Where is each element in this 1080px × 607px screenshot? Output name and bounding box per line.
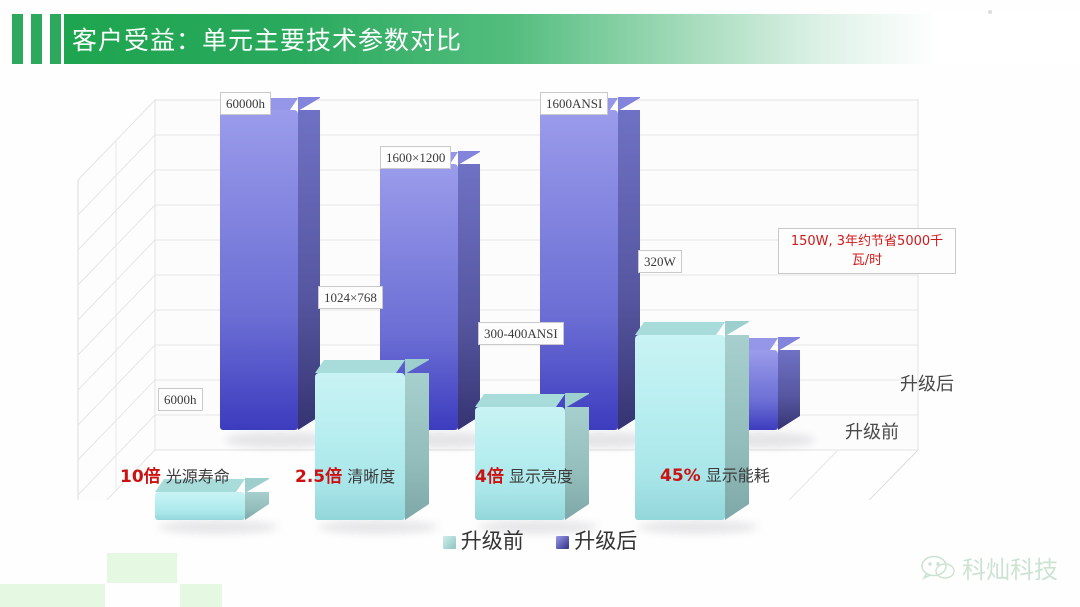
legend-swatch-icon (443, 536, 456, 549)
bar-side (245, 492, 269, 520)
legend-label: 升级后 (574, 529, 637, 553)
depth-axis-label-far: 升级后 (900, 370, 954, 396)
data-label-before-brightness: 300-400ANSI (478, 322, 564, 345)
bar-side (778, 350, 800, 430)
annotation-power-saving: 150W, 3年约节省5000千瓦/时 (778, 228, 956, 274)
bar-side (458, 164, 480, 430)
watermark: 科灿科技 (921, 550, 1058, 585)
category-name: 显示亮度 (509, 467, 573, 486)
category-label-lamp-life: 10倍 光源寿命 (120, 462, 230, 487)
header-tick-3 (50, 14, 61, 64)
category-label-brightness: 4倍 显示亮度 (475, 462, 573, 487)
category-name: 光源寿命 (166, 467, 230, 486)
bar-top (635, 322, 725, 335)
category-multiplier: 2.5倍 (295, 467, 342, 487)
bar-before-resolution[interactable] (315, 373, 405, 520)
decor-square-3 (180, 584, 222, 607)
bar-front (155, 492, 245, 520)
corner-dot (988, 10, 992, 14)
category-label-row: 10倍 光源寿命 2.5倍 清晰度 4倍 显示亮度 45% 显示能耗 (60, 462, 960, 488)
slide-header: 客户受益：单元主要技术参数对比 (0, 14, 1080, 64)
category-multiplier: 10倍 (120, 467, 161, 487)
slide: 客户受益：单元主要技术参数对比 (0, 0, 1080, 607)
legend-item-after[interactable]: 升级后 (556, 525, 637, 555)
page-title: 客户受益：单元主要技术参数对比 (72, 21, 462, 57)
bar-chart-3d: 60000h 6000h 1600×1200 1024×768 (60, 80, 960, 500)
data-label-before-power: 320W (638, 250, 682, 273)
data-label-after-resolution: 1600×1200 (380, 146, 451, 169)
bar-front (540, 110, 618, 430)
bar-front (315, 373, 405, 520)
data-label-before-lamp-life: 6000h (158, 388, 203, 411)
watermark-text: 科灿科技 (962, 550, 1058, 585)
bar-side (725, 335, 749, 520)
bar-top (315, 360, 405, 373)
category-label-power: 45% 显示能耗 (660, 462, 770, 486)
bar-before-lamp-life[interactable] (155, 492, 245, 520)
legend-item-before[interactable]: 升级前 (443, 525, 524, 555)
bar-front (220, 110, 298, 430)
category-name: 显示能耗 (706, 466, 770, 485)
legend-swatch-icon (556, 536, 569, 549)
bar-top (475, 394, 565, 407)
bar-side (405, 373, 429, 520)
category-name: 清晰度 (347, 467, 395, 486)
header-tick-2 (31, 14, 42, 64)
data-label-after-lamp-life: 60000h (220, 92, 271, 115)
chart-legend: 升级前 升级后 (0, 525, 1080, 555)
bar-after-lamp-life[interactable] (220, 110, 298, 430)
header-tick-1 (12, 14, 23, 64)
bar-front (635, 335, 725, 520)
decor-square-2 (107, 553, 177, 583)
depth-axis-label-near: 升级前 (845, 418, 899, 444)
legend-label: 升级前 (461, 529, 524, 553)
wechat-icon (921, 555, 955, 581)
category-multiplier: 45% (660, 466, 701, 486)
data-label-after-brightness: 1600ANSI (540, 92, 608, 115)
category-multiplier: 4倍 (475, 467, 504, 487)
bar-after-brightness[interactable] (540, 110, 618, 430)
decor-square-1 (0, 584, 105, 607)
data-label-before-resolution: 1024×768 (318, 286, 383, 309)
bar-before-power[interactable] (635, 335, 725, 520)
category-label-resolution: 2.5倍 清晰度 (295, 462, 395, 487)
